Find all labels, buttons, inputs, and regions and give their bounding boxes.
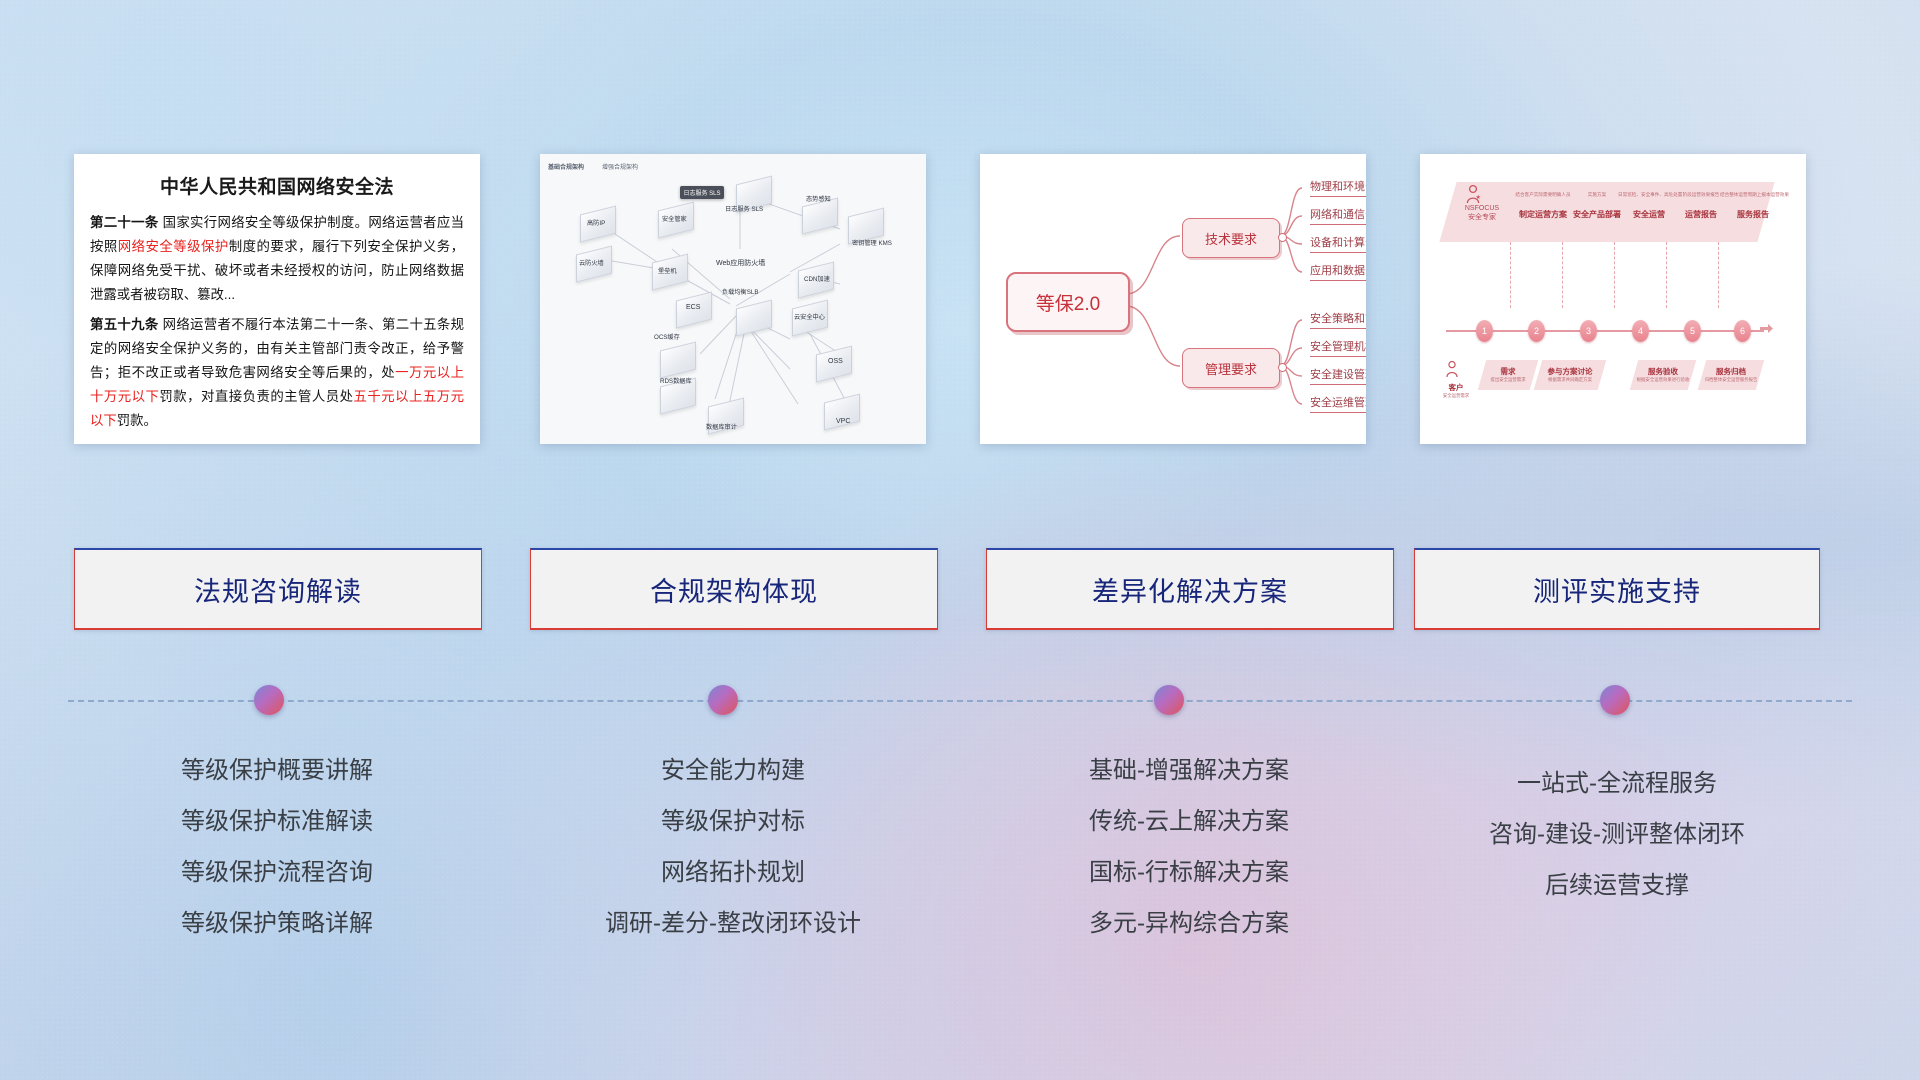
customer-label: 客户 [1434, 382, 1478, 393]
mindmap-leaf-tech-2: 网络和通信安全 [1310, 206, 1366, 225]
step-sub-5: 结合整体运营周期上报本运营效果 [1720, 192, 1786, 198]
bottom-node-title-1: 需求 [1482, 366, 1534, 377]
list-item: 传统-云上解决方案 [986, 796, 1392, 847]
law-paragraph-21: 第二十一条 国家实行网络安全等级保护制度。网络运营者应当按照网络安全等级保护制度… [90, 211, 464, 307]
headline-label-1: 法规咨询解读 [194, 570, 362, 609]
arch-label-ecs: ECS [686, 304, 700, 311]
arch-label-vpc: VPC [836, 418, 850, 425]
arch-label-rizhi: 日志服务 SLS [725, 204, 763, 213]
axis-arrow-icon [1760, 324, 1774, 338]
bullet-column-3: 基础-增强解决方案 传统-云上解决方案 国标-行标解决方案 多元-异构综合方案 [986, 745, 1392, 949]
arch-label-waf: Web应用防火墙 [716, 258, 765, 268]
arch-label-ocs: OCS缓存 [654, 332, 680, 341]
bottom-node-sub-1: 提出安全运营需求 [1482, 377, 1534, 383]
step-title-1: 制定运营方案 [1512, 209, 1574, 220]
card-mindmap: 等保2.0 技术要求 物理和环境安全 网络和通信安全 设备和计算安全 应用和数据… [980, 154, 1366, 444]
bottom-node-title-4: 服务归档 [1702, 366, 1760, 377]
brand-subtitle: 安全专家 [1458, 213, 1506, 222]
step-title-5: 服务报告 [1720, 209, 1786, 220]
list-item: 等级保护流程咨询 [74, 847, 480, 898]
timeline-marker-2[interactable] [708, 685, 738, 715]
list-item: 国标-行标解决方案 [986, 847, 1392, 898]
card-law-text: 中华人民共和国网络安全法 第二十一条 国家实行网络安全等级保护制度。网络运营者应… [74, 154, 480, 444]
step-sub-1: 结合客户实际需要明确人员 [1512, 192, 1574, 198]
list-item: 等级保护策略详解 [74, 898, 480, 949]
customer-person-icon [1444, 360, 1460, 383]
arch-label-kms: 密钥管理 KMS [852, 238, 892, 247]
mindmap-leaf-mgmt-3: 安全建设管理 [1310, 366, 1366, 385]
connector-dash-4 [1666, 242, 1668, 308]
timeline-marker-1[interactable] [254, 685, 284, 715]
mindmap-branch-tech: 技术要求 [1182, 218, 1280, 258]
list-item: 调研-差分-整改闭环设计 [530, 898, 936, 949]
mindmap-leaf-mgmt-4: 安全运维管理 [1310, 394, 1366, 413]
mindmap-leaf-tech-1: 物理和环境安全 [1310, 178, 1366, 197]
timeline-number-4: 4 [1632, 320, 1649, 342]
arch-label-taishiganzhi: 态势感知 [806, 194, 831, 203]
timeline-number-6: 6 [1734, 320, 1751, 342]
list-item: 后续运营支撑 [1414, 860, 1820, 911]
arch-label-rds: RDS数据库 [660, 376, 692, 385]
timeline-marker-4[interactable] [1600, 685, 1630, 715]
list-item: 咨询-建设-测评整体闭环 [1414, 809, 1820, 860]
connector-dash-3 [1614, 242, 1616, 308]
arch-label-cdn: CDN加速 [804, 274, 830, 283]
law-title: 中华人民共和国网络安全法 [90, 172, 464, 199]
bottom-node-title-3: 服务验收 [1634, 366, 1692, 377]
connector-dash-2 [1562, 242, 1564, 308]
mindmap-branch-mgmt: 管理要求 [1182, 348, 1280, 388]
timeline-dashed-line [68, 700, 1852, 702]
list-item: 一站式-全流程服务 [1414, 758, 1820, 809]
mindmap-root: 等保2.0 [1006, 272, 1130, 332]
connector-dash-5 [1718, 242, 1720, 308]
arch-label-anquanguanjia: 安全管家 [662, 214, 687, 223]
list-item: 网络拓扑规划 [530, 847, 936, 898]
svg-text:★: ★ [1476, 194, 1481, 201]
law-article-label-21: 第二十一条 [90, 215, 159, 230]
timeline-number-1: 1 [1476, 320, 1493, 342]
law-text-59-3: 罚款。 [117, 413, 157, 428]
law-highlight-21: 网络安全等级保护 [118, 239, 229, 254]
law-paragraph-59: 第五十九条 网络运营者不履行本法第二十一条、第二十五条规定的网络安全保护义务的，… [90, 313, 464, 433]
arch-node-dark: 日志服务 SLS [680, 186, 724, 199]
headline-box-2[interactable]: 合规架构体现 [530, 548, 938, 630]
customer-sub: 安全运营需求 [1434, 393, 1478, 399]
card-service-timeline: ★ NSFOCUS 安全专家 结合客户实际需要明确人员 制定运营方案 实施方案 … [1420, 154, 1806, 444]
card-architecture-diagram: 基础合规架构 增强合规架构 日志服务 SLS 高防IP 云防火墙 安全管家 堡垒… [540, 154, 926, 444]
headline-label-4: 测评实施支持 [1533, 570, 1701, 609]
bullet-column-2: 安全能力构建 等级保护对标 网络拓扑规划 调研-差分-整改闭环设计 [530, 745, 936, 949]
headline-box-1[interactable]: 法规咨询解读 [74, 548, 482, 630]
arch-label-baoleiji: 堡垒机 [658, 266, 677, 275]
timeline-axis [1446, 330, 1764, 332]
mindmap-collapse-dot-tech[interactable] [1278, 233, 1287, 242]
law-text-59-2: 罚款，对直接负责的主管人员处 [159, 389, 353, 404]
mindmap-leaf-tech-3: 设备和计算安全 [1310, 234, 1366, 253]
bottom-node-sub-3: 根据安全运营效果进行验收 [1634, 377, 1692, 383]
list-item: 等级保护对标 [530, 796, 936, 847]
headline-label-3: 差异化解决方案 [1092, 570, 1288, 609]
connector-dash-1 [1510, 242, 1512, 308]
headline-box-3[interactable]: 差异化解决方案 [986, 548, 1394, 630]
arch-label-yunfanghuoqiang: 云防火墙 [579, 258, 604, 267]
arch-label-oss: OSS [828, 358, 843, 365]
arch-label-dbaudit: 数据库审计 [706, 422, 737, 431]
bullet-column-1: 等级保护概要讲解 等级保护标准解读 等级保护流程咨询 等级保护策略详解 [74, 745, 480, 949]
headline-label-2: 合规架构体现 [650, 570, 818, 609]
bottom-node-sub-4: 归档整体安全运营服务报告 [1702, 377, 1760, 383]
mindmap-collapse-dot-mgmt[interactable] [1278, 363, 1287, 372]
mindmap-leaf-tech-4: 应用和数据安全 [1310, 262, 1366, 281]
timeline-number-5: 5 [1684, 320, 1701, 342]
bullet-column-4: 一站式-全流程服务 咨询-建设-测评整体闭环 后续运营支撑 [1414, 758, 1820, 911]
arch-label-gaofangip: 高防IP [587, 218, 605, 227]
list-item: 多元-异构综合方案 [986, 898, 1392, 949]
list-item: 安全能力构建 [530, 745, 936, 796]
arch-label-yunanquan: 云安全中心 [794, 312, 825, 321]
timeline-number-2: 2 [1528, 320, 1545, 342]
timeline-marker-3[interactable] [1154, 685, 1184, 715]
bottom-node-sub-2: 根据需求共同确定方案 [1538, 377, 1602, 383]
law-article-label-59: 第五十九条 [90, 317, 159, 332]
brand-name: NSFOCUS [1458, 204, 1506, 213]
arch-label-slb: 负载均衡SLB [722, 287, 758, 296]
bottom-node-title-2: 参与方案讨论 [1538, 366, 1602, 377]
list-item: 基础-增强解决方案 [986, 745, 1392, 796]
timeline-number-3: 3 [1580, 320, 1597, 342]
list-item: 等级保护标准解读 [74, 796, 480, 847]
mindmap-leaf-mgmt-1: 安全策略和管理制度 [1310, 310, 1366, 329]
list-item: 等级保护概要讲解 [74, 745, 480, 796]
headline-box-4[interactable]: 测评实施支持 [1414, 548, 1820, 630]
mindmap-leaf-mgmt-2: 安全管理机构和人员 [1310, 338, 1366, 357]
